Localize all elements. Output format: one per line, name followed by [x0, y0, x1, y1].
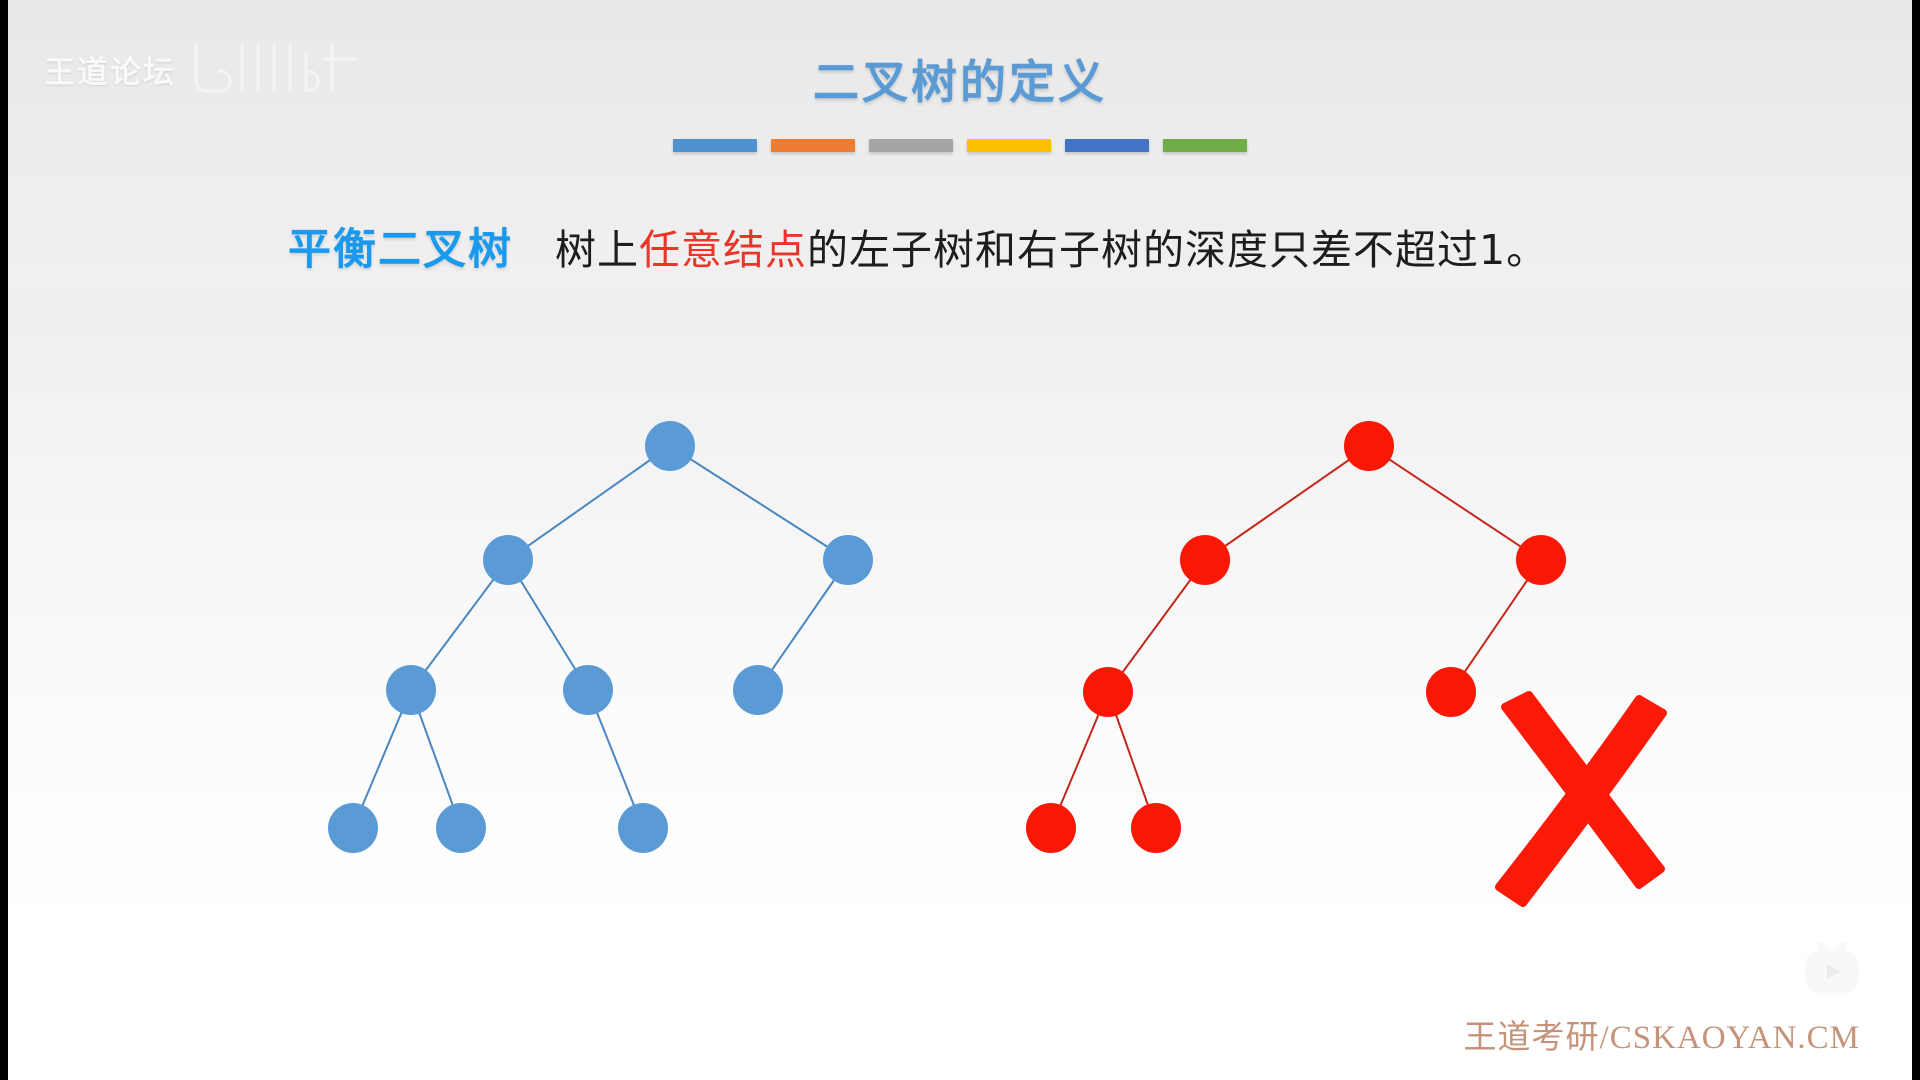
- definition-body: 树上任意结点的左子树和右子树的深度只差不超过1。: [555, 216, 1548, 276]
- definition-row: 平衡二叉树 树上任意结点的左子树和右子树的深度只差不超过1。: [8, 215, 1912, 277]
- tree-diagrams: [8, 290, 1912, 990]
- valid-tree-nodes: [328, 421, 873, 853]
- tree-node: [1131, 803, 1181, 853]
- tree-node: [1516, 535, 1566, 585]
- bar-blue-dark: [1065, 139, 1149, 152]
- slide-root: 王道论坛: [0, 0, 1920, 1080]
- tree-node: [1344, 421, 1394, 471]
- tree-node: [1083, 667, 1133, 717]
- slide-canvas: 王道论坛: [8, 0, 1912, 1080]
- invalid-tree-edges: [1051, 446, 1541, 828]
- bar-gray: [869, 139, 953, 152]
- bar-blue-light: [673, 139, 757, 152]
- tree-edge: [508, 446, 670, 560]
- tree-node: [618, 803, 668, 853]
- bar-orange: [771, 139, 855, 152]
- tree-node: [1180, 535, 1230, 585]
- page-title: 二叉树的定义: [8, 46, 1912, 112]
- tree-node: [1026, 803, 1076, 853]
- tree-diagram-svg: [8, 290, 1912, 990]
- valid-tree-edges: [353, 446, 848, 828]
- tree-node: [328, 803, 378, 853]
- tree-node: [563, 665, 613, 715]
- definition-body-prefix: 树上: [555, 226, 639, 274]
- definition-body-highlight: 任意结点: [639, 226, 807, 274]
- tree-edge: [1205, 446, 1369, 560]
- tree-node: [483, 535, 533, 585]
- bar-green: [1163, 139, 1247, 152]
- bilibili-tv-logo-icon: [1802, 940, 1862, 994]
- red-cross-mark-icon: [1499, 695, 1663, 903]
- tree-edge: [1369, 446, 1541, 560]
- tree-node: [733, 665, 783, 715]
- invalid-tree-nodes: [1026, 421, 1566, 853]
- definition-term: 平衡二叉树: [288, 215, 513, 277]
- definition-body-suffix: 的左子树和右子树的深度只差不超过1。: [807, 226, 1548, 274]
- footer-watermark: 王道考研/CSKAOYAN.CM: [1464, 1010, 1860, 1058]
- bar-yellow: [967, 139, 1051, 152]
- tree-node: [645, 421, 695, 471]
- tree-edge: [670, 446, 848, 560]
- tree-node: [386, 665, 436, 715]
- tree-node: [1426, 667, 1476, 717]
- tree-node: [436, 803, 486, 853]
- decorative-bars: [8, 139, 1912, 152]
- tree-node: [823, 535, 873, 585]
